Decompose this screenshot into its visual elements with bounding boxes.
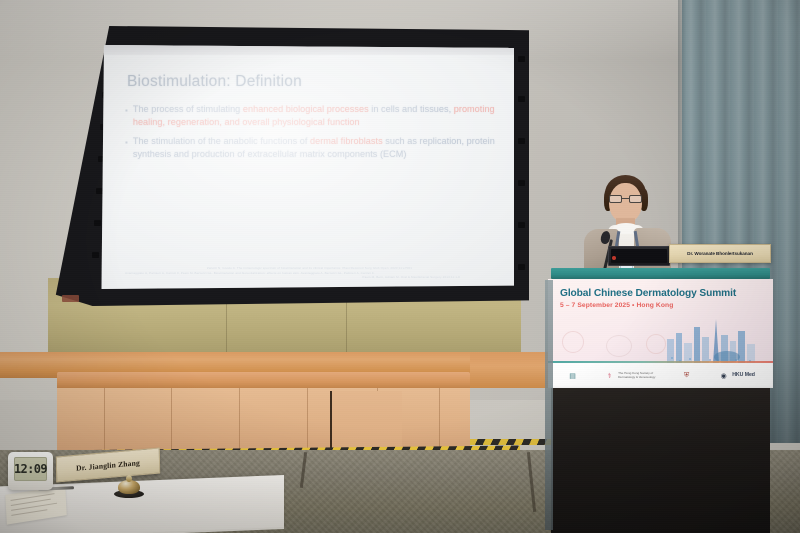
conference-photo-scene: Biostimulation: Definition ▪ The process… [0,0,800,533]
timer-value: 12:09 [14,463,47,475]
podium-lower-body [551,388,770,533]
eyeglass-lens-left [609,195,622,203]
screen-tension-clip [518,56,525,62]
eyeglass-lens-right [629,195,642,203]
summit-dates: 5 – 7 September 2025 [560,302,630,309]
speaker-eyeglasses [609,195,642,203]
speaker-face [609,183,642,223]
slide-title: Biostimulation: Definition [127,73,496,91]
society-logo-2-icon: ⚕ [603,369,616,382]
podium-side-rail [545,280,553,530]
screen-tension-clip [518,264,525,270]
sponsor-logo-strip: ▤ ⚕ The Hong Kong Society of Dermatology… [548,363,773,388]
citation-3: Pasin M, Berti, Adriani M. Oral & Maxill… [125,275,494,280]
hku-med-logo-icon: ◉ [717,369,730,382]
screen-tension-clip [518,96,525,102]
sponsor-logo-2: ⚕ The Hong Kong Society of Dermatology &… [603,369,656,382]
stage-front-panels [57,388,470,450]
screen-tension-clip [92,252,99,258]
screen-tension-clip [518,222,525,228]
screen-tension-clip [96,188,103,194]
slide-bullet-2: ▪ The stimulation of the anabolic functi… [125,135,496,160]
eyeglass-bridge [622,198,629,199]
laptop-power-indicator-icon [612,256,616,260]
banner-watermark-1 [562,331,584,353]
podium-name-sign: Dr. Woranate Bhonlertsukanan [669,244,771,263]
podium-name-sign-text: Dr. Woranate Bhonlertsukanan [687,251,753,256]
bullet-2-text: The stimulation of the anabolic function… [133,135,496,160]
slide-content: Biostimulation: Definition ▪ The process… [99,55,514,289]
hku-med-caption: HKU Med [732,373,755,378]
slide-bullet-1: ▪ The process of stimulating enhanced bi… [125,103,496,128]
society-logo-2-caption: The Hong Kong Society of Dermatology & V… [618,372,656,379]
banner-watermark-2 [606,335,632,357]
digital-timer[interactable]: 12:09 [8,452,53,490]
screen-tension-clip [518,180,525,186]
bullet-1-text: The process of stimulating enhanced biol… [133,103,496,128]
timer-lcd-screen: 12:09 [14,457,47,481]
screen-tension-clip [94,220,101,226]
service-bell[interactable] [118,480,140,494]
sponsor-logo-1: ▤ [566,369,579,382]
stage-access-door[interactable] [330,391,402,450]
presenter-laptop[interactable] [608,246,670,266]
screen-tension-clip [518,138,525,144]
projection-screen: Biostimulation: Definition ▪ The process… [52,26,529,306]
sponsor-logo-3: ⛨ [680,369,693,382]
podium-banner: Global Chinese Dermatology Summit 5 – 7 … [548,279,773,365]
slide-surface: Biostimulation: Definition ▪ The process… [99,45,514,289]
summit-title: Global Chinese Dermatology Summit [560,288,736,299]
hong-kong-skyline-graphic [661,317,769,363]
summit-location: Hong Kong [636,302,673,309]
bullet-dot-icon: ▪ [125,135,128,160]
society-logo-1-icon: ▤ [566,369,579,382]
desk-name-plate-text: Dr. Jianglin Zhang [76,458,140,473]
service-bell-knob[interactable] [126,475,132,482]
summit-subtitle: 5 – 7 September 2025•Hong Kong [560,302,673,309]
screen-brand-badge [62,295,79,302]
bullet-dot-icon: ▪ [125,103,128,128]
laptop-screen [611,249,667,263]
podium: Dr. Woranate Bhonlertsukanan Global Chin… [545,268,776,533]
slide-citations: Zanotti N, Goode A. The immunologic spec… [125,266,494,280]
sponsor-logo-4: ◉ HKU Med [717,369,755,382]
podium-top-trim [551,268,770,279]
university-crest-icon: ⛨ [680,369,693,382]
